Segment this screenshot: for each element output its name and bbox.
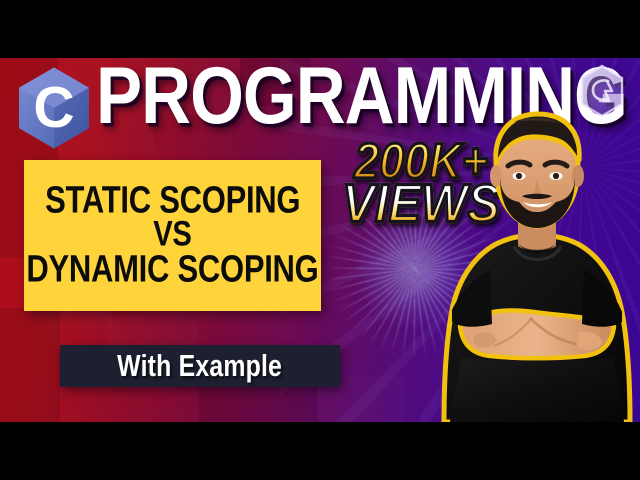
thumbnail-content: C PROGRAMMING STATIC SCOPING VS DYNAMIC … <box>0 58 640 422</box>
svg-text:C: C <box>33 76 74 140</box>
letterbox-bar-top <box>0 0 640 58</box>
thumbnail-screenshot: C PROGRAMMING STATIC SCOPING VS DYNAMIC … <box>0 0 640 480</box>
headline-box: STATIC SCOPING VS DYNAMIC SCOPING <box>24 160 321 311</box>
subtitle-box: With Example <box>60 345 340 387</box>
headline-line-3: DYNAMIC SCOPING <box>26 247 318 289</box>
subtitle-text: With Example <box>118 349 283 384</box>
letterbox-bar-bottom <box>0 422 640 480</box>
c-language-hexagon-logo-icon: C <box>8 62 100 154</box>
presenter-photo <box>434 96 640 422</box>
